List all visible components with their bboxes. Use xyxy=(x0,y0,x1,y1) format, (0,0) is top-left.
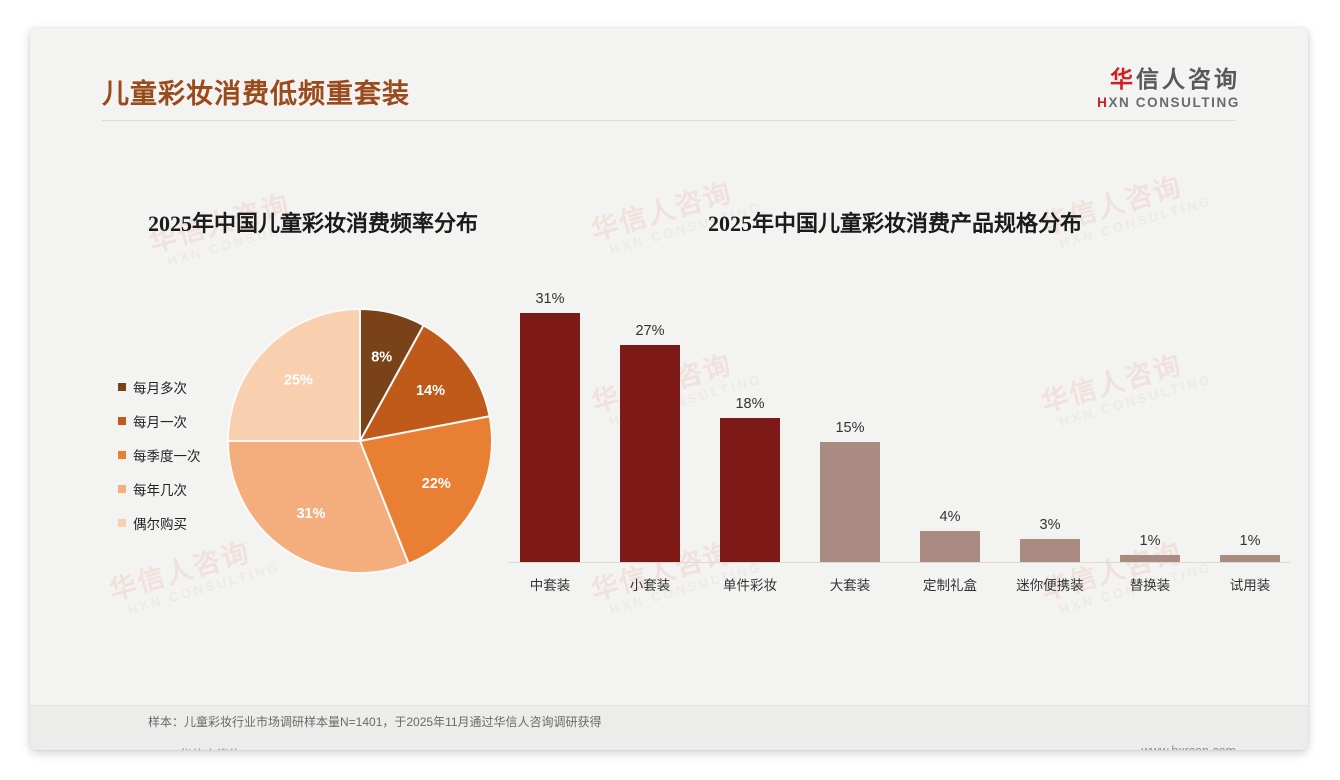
bar-category-label: 小套装 xyxy=(600,574,700,594)
pie-svg: 8%14%22%31%25% xyxy=(225,306,495,576)
company-logo: 华信人咨询 HXN CONSULTING xyxy=(1097,66,1240,110)
bar-value-label: 1% xyxy=(1200,533,1300,549)
bar-rect[interactable] xyxy=(720,418,780,563)
legend-item-label: 偶尔购买 xyxy=(133,513,187,533)
bar-chart-title: 2025年中国儿童彩妆消费产品规格分布 xyxy=(708,206,1082,238)
logo-cn-accent: 华 xyxy=(1110,66,1136,92)
bar-column[interactable]: 27% xyxy=(600,268,700,563)
bar-rect[interactable] xyxy=(1020,539,1080,563)
bar-value-label: 27% xyxy=(600,323,700,339)
bar-value-label: 1% xyxy=(1100,533,1200,549)
legend-item-label: 每季度一次 xyxy=(133,445,201,465)
legend-item-label: 每月一次 xyxy=(133,411,187,431)
bar-column[interactable]: 18% xyxy=(700,268,800,563)
bar-chart: 31%中套装27%小套装18%单件彩妆15%大套装4%定制礼盒3%迷你便携装1%… xyxy=(500,268,1290,608)
copyright-text: ©2026.1 HXR华信人咨询 xyxy=(102,744,242,750)
bar-value-label: 15% xyxy=(800,420,900,436)
legend-swatch-icon xyxy=(118,519,126,527)
bar-category-label: 中套装 xyxy=(500,574,600,594)
source-footnote: 样本：儿童彩妆行业市场调研样本量N=1401，于2025年11月通过华信人咨询调… xyxy=(148,713,602,730)
pie-slice-value: 31% xyxy=(296,506,325,522)
bar-category-label: 替换装 xyxy=(1100,574,1200,594)
bar-column[interactable]: 4% xyxy=(900,268,1000,563)
logo-chinese: 华信人咨询 xyxy=(1097,66,1240,92)
bar-column[interactable]: 3% xyxy=(1000,268,1100,563)
footer-divider xyxy=(30,705,1308,706)
legend-item-label: 每月多次 xyxy=(133,377,187,397)
slide-header: 儿童彩妆消费低频重套装 华信人咨询 HXN CONSULTING xyxy=(30,28,1308,120)
logo-en-accent: H xyxy=(1097,95,1108,110)
bar-plot: 31%中套装27%小套装18%单件彩妆15%大套装4%定制礼盒3%迷你便携装1%… xyxy=(500,268,1290,563)
logo-en-rest: XN CONSULTING xyxy=(1108,95,1240,110)
bar-value-label: 4% xyxy=(900,509,1000,525)
bar-value-label: 3% xyxy=(1000,517,1100,533)
bar-category-label: 单件彩妆 xyxy=(700,574,800,594)
bar-category-label: 大套装 xyxy=(800,574,900,594)
legend-swatch-icon xyxy=(118,451,126,459)
logo-cn-rest: 信人咨询 xyxy=(1136,66,1240,92)
bar-rect[interactable] xyxy=(820,442,880,563)
bar-value-label: 31% xyxy=(500,291,600,307)
bar-column[interactable]: 31% xyxy=(500,268,600,563)
logo-english: HXN CONSULTING xyxy=(1097,95,1240,110)
bar-column[interactable]: 15% xyxy=(800,268,900,563)
bar-rect[interactable] xyxy=(520,313,580,563)
pie-slice-value: 22% xyxy=(422,476,451,492)
pie-slice-value: 14% xyxy=(416,383,445,399)
bar-category-label: 试用装 xyxy=(1200,574,1300,594)
pie-slice-value: 25% xyxy=(284,372,313,388)
bar-rect[interactable] xyxy=(920,531,980,563)
legend-item-label: 每年几次 xyxy=(133,479,187,499)
bar-category-label: 定制礼盒 xyxy=(900,574,1000,594)
bar-baseline-axis xyxy=(508,562,1290,563)
website-url[interactable]: www.hxrcon.com xyxy=(1142,744,1236,750)
bar-column[interactable]: 1% xyxy=(1100,268,1200,563)
bar-column[interactable]: 1% xyxy=(1200,268,1300,563)
page-title: 儿童彩妆消费低频重套装 xyxy=(102,72,410,111)
bar-value-label: 18% xyxy=(700,396,800,412)
title-divider xyxy=(102,120,1236,121)
bar-category-label: 迷你便携装 xyxy=(1000,574,1100,594)
pie-slice-value: 8% xyxy=(371,350,392,366)
slide-card: 华信人咨询 HXN CONSULTING 华信人咨询 HXN CONSULTIN… xyxy=(30,28,1308,750)
pie-chart-title: 2025年中国儿童彩妆消费频率分布 xyxy=(148,206,478,238)
legend-swatch-icon xyxy=(118,383,126,391)
pie-chart: 每月多次每月一次每季度一次每年几次偶尔购买 8%14%22%31%25% xyxy=(90,268,530,648)
legend-swatch-icon xyxy=(118,417,126,425)
legend-swatch-icon xyxy=(118,485,126,493)
bar-rect[interactable] xyxy=(620,345,680,563)
